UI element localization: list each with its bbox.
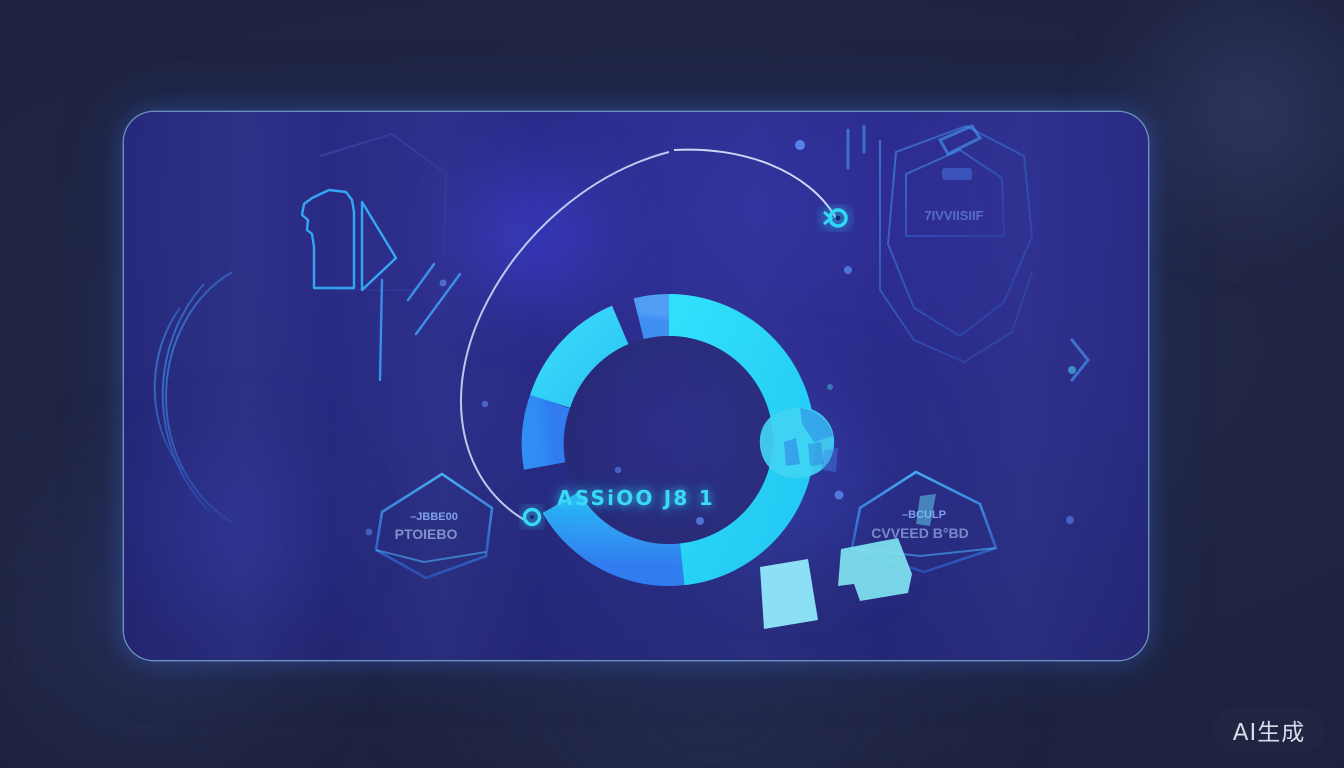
center-stat-label: ASSiOO J8 1 <box>124 486 1148 510</box>
right-shield-accent <box>848 126 980 168</box>
main-card: –JBBE00 PTOIEBO –BCULP CVVEED B°BD 7IVVI… <box>124 112 1148 660</box>
left-lock-icon <box>302 190 396 290</box>
right-shield-badge-label: 7IVVIISIIF <box>924 208 983 223</box>
right-shield-icon <box>880 126 1032 362</box>
outer-orbit-arc-right <box>674 150 836 218</box>
card-nebula-top <box>424 152 644 322</box>
orbit-node-bottom-left <box>525 510 540 525</box>
card-nebula-center <box>644 362 944 592</box>
donut-segment-cyan-left <box>550 325 620 402</box>
donut-segment-blue-top-left <box>639 315 669 319</box>
bottom-left-badge-line2: PTOIEBO <box>395 526 458 542</box>
card-nebula-left <box>124 412 364 652</box>
ai-generated-watermark: AI生成 <box>1213 707 1325 753</box>
donut-segment-blue-bottom <box>543 401 550 466</box>
right-shield-chip <box>942 168 972 180</box>
orbit-node-top-right <box>824 210 846 226</box>
bottom-left-badge-line1: –JBBE00 <box>410 511 458 523</box>
left-hex-outline <box>320 134 446 290</box>
ai-generated-watermark-label: AI生成 <box>1233 713 1306 747</box>
scene-root: –JBBE00 PTOIEBO –BCULP CVVEED B°BD 7IVVI… <box>0 0 1344 768</box>
right-caret-icon <box>1072 340 1088 380</box>
